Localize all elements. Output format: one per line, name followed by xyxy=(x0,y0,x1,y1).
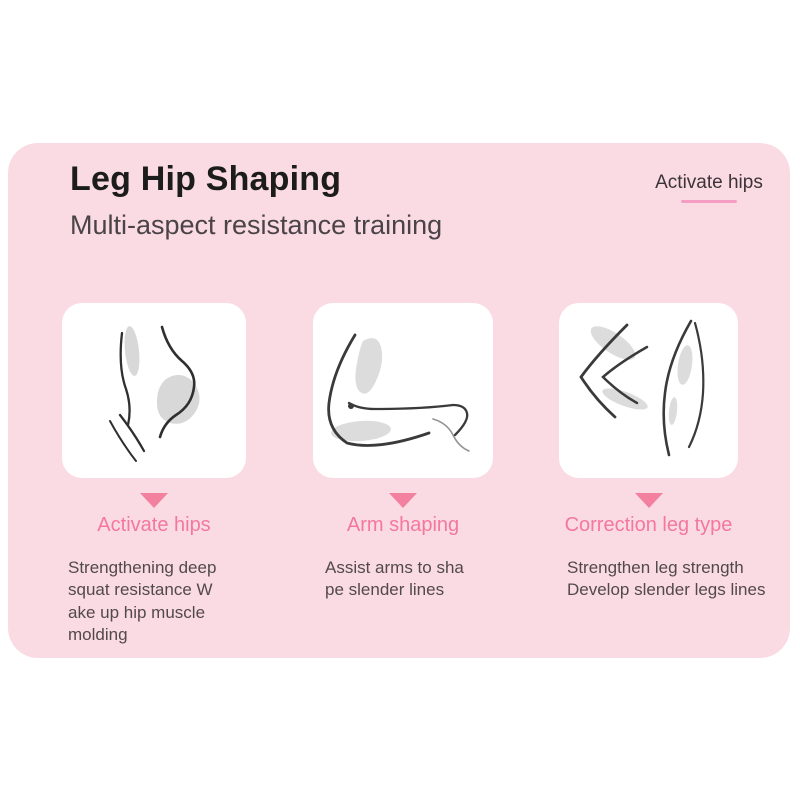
card-body-line: ake up hip muscle xyxy=(68,602,268,624)
card-caption: Activate hips xyxy=(62,514,246,537)
card-body-line: Strengthening deep xyxy=(68,557,268,579)
card-body: Strengthen leg strength Develop slender … xyxy=(567,557,797,602)
hip-glute-silhouette-icon xyxy=(62,303,246,478)
feature-card-activate-hips[interactable]: Activate hips Strengthening deep squat r… xyxy=(62,303,246,647)
card-body: Assist arms to sha pe slender lines xyxy=(325,557,535,602)
card-pointer-triangle xyxy=(389,493,417,508)
card-body-line: squat resistance W xyxy=(68,579,268,601)
card-body-line: pe slender lines xyxy=(325,579,535,601)
activate-hips-tag: Activate hips xyxy=(648,172,770,203)
legs-silhouette-icon xyxy=(559,303,738,478)
card-body-line: Assist arms to sha xyxy=(325,557,535,579)
page-subtitle: Multi-aspect resistance training xyxy=(70,210,442,241)
card-body-line: Strengthen leg strength xyxy=(567,557,797,579)
infographic-stage: Leg Hip Shaping Multi-aspect resistance … xyxy=(0,0,800,800)
card-thumbnail xyxy=(62,303,246,478)
tag-label: Activate hips xyxy=(648,172,770,194)
card-pointer-triangle xyxy=(140,493,168,508)
card-body: Strengthening deep squat resistance W ak… xyxy=(68,557,268,647)
card-caption: Correction leg type xyxy=(559,514,738,537)
card-thumbnail xyxy=(559,303,738,478)
card-body-line: molding xyxy=(68,624,268,646)
bent-arm-silhouette-icon xyxy=(313,303,493,478)
card-thumbnail xyxy=(313,303,493,478)
feature-card-correction-leg-type[interactable]: Correction leg type Strengthen leg stren… xyxy=(559,303,738,602)
card-body-line: Develop slender legs lines xyxy=(567,579,797,601)
card-pointer-triangle xyxy=(635,493,663,508)
tag-underline xyxy=(681,200,737,203)
feature-cards: Activate hips Strengthening deep squat r… xyxy=(0,303,800,633)
feature-card-arm-shaping[interactable]: Arm shaping Assist arms to sha pe slende… xyxy=(313,303,493,602)
page-title: Leg Hip Shaping xyxy=(70,160,341,199)
card-caption: Arm shaping xyxy=(313,514,493,537)
